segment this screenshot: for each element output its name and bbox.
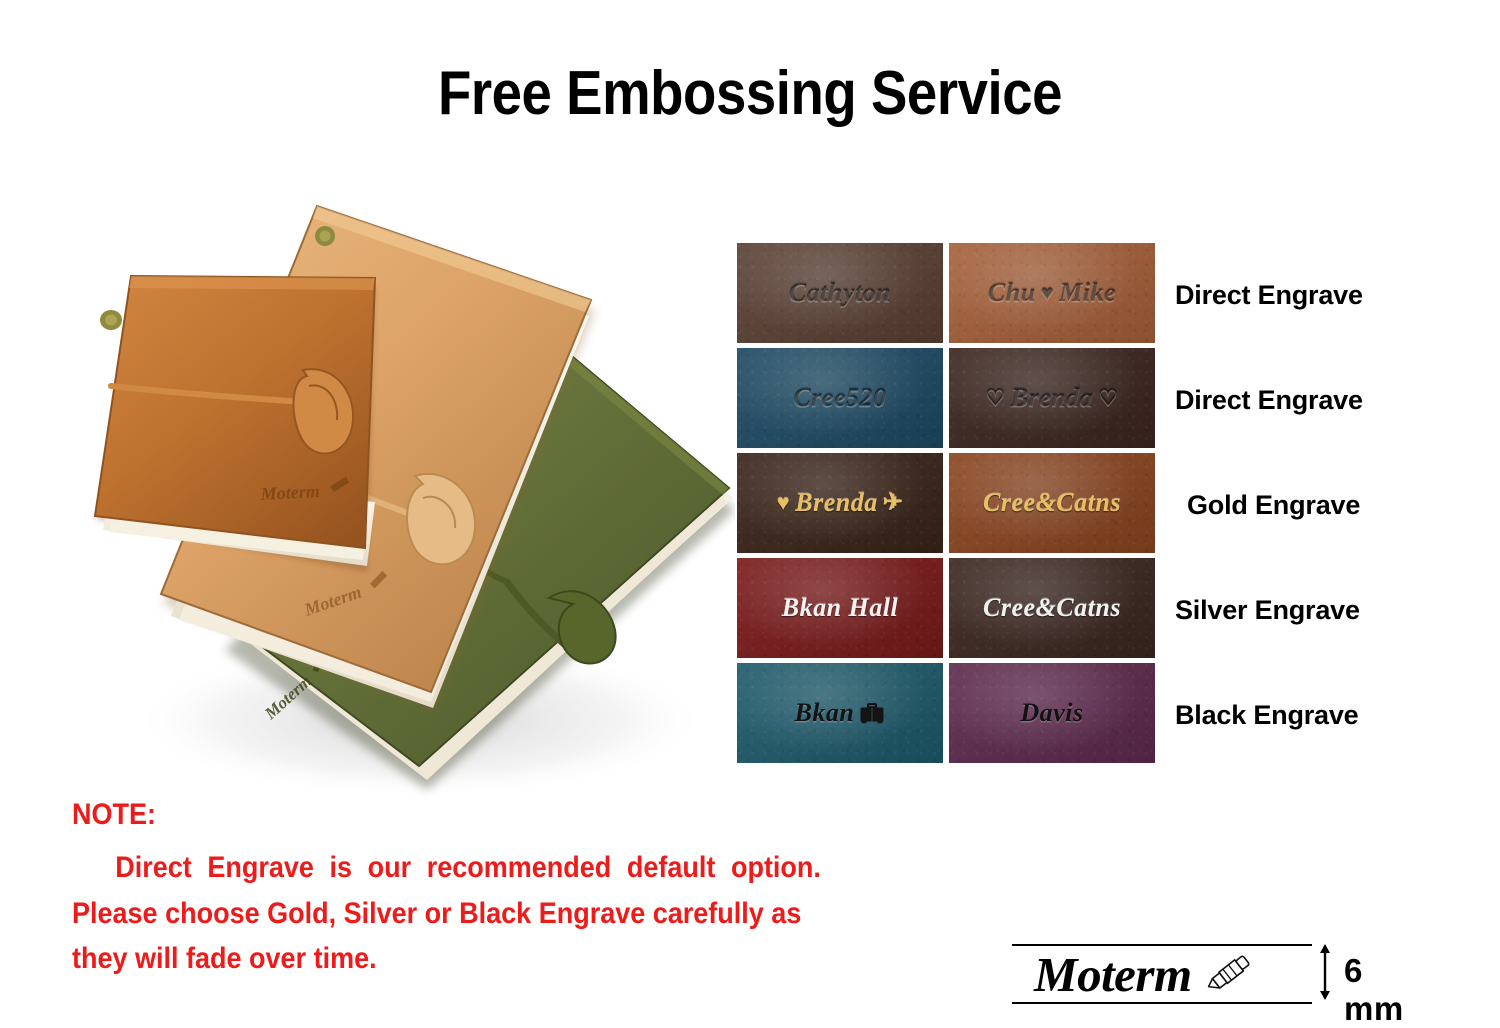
briefcase-icon bbox=[859, 703, 885, 724]
note-line-2: Please choose Gold, Silver or Black Engr… bbox=[72, 891, 936, 937]
swatch-sample-2: Chu ♥ Mike bbox=[949, 243, 1155, 343]
swatch-text: Bkan Hall bbox=[782, 593, 898, 623]
swatch-name: Chu bbox=[988, 278, 1036, 308]
note-heading: NOTE: bbox=[72, 798, 936, 832]
size-label: 6 mm bbox=[1344, 952, 1432, 1028]
swatch-text: Davis bbox=[1020, 698, 1083, 728]
engrave-label-black: Black Engrave bbox=[1175, 663, 1475, 768]
svg-text:Moterm: Moterm bbox=[259, 481, 320, 504]
page-title: Free Embossing Service bbox=[90, 58, 1410, 129]
moterm-logo-box: Moterm bbox=[1012, 944, 1312, 1004]
note-line-3: they will fade over time. bbox=[72, 936, 936, 982]
airplane-icon: ✈ bbox=[883, 491, 904, 515]
swatch-text: Cree&Catns bbox=[983, 593, 1121, 623]
swatch-name: Brenda bbox=[795, 488, 877, 518]
note-block: NOTE: Direct Engrave is our recommended … bbox=[72, 798, 1032, 982]
swatch-text: ♥ Brenda ✈ bbox=[777, 488, 904, 518]
brand-mark: Moterm 6 mm bbox=[1012, 932, 1432, 1018]
dimension-arrow bbox=[1316, 944, 1334, 1000]
moterm-wordmark: Moterm bbox=[1034, 950, 1192, 999]
swatch-name: Bkan bbox=[795, 698, 855, 728]
pen-icon bbox=[1202, 953, 1258, 997]
swatch-sample-6: Cree&Catns bbox=[949, 453, 1155, 553]
engrave-sample-grid: Cathyton Chu ♥ Mike Cree520 ♡ Brenda ♡ ♥ bbox=[737, 243, 1155, 763]
engrave-label-direct-1: Direct Engrave bbox=[1175, 243, 1475, 348]
swatch-sample-8: Cree&Catns bbox=[949, 558, 1155, 658]
note-line-1: Direct Engrave is our recommended defaul… bbox=[72, 845, 936, 891]
swatch-text: Chu ♥ Mike bbox=[988, 278, 1116, 308]
engrave-type-legend: Direct Engrave Direct Engrave Gold Engra… bbox=[1175, 243, 1475, 768]
swatch-name: Brenda bbox=[1011, 383, 1093, 413]
swatch-name: Davis bbox=[1020, 698, 1083, 728]
swatch-text: Bkan bbox=[795, 698, 886, 728]
swatch-sample-1: Cathyton bbox=[737, 243, 943, 343]
swatch-name-2: Mike bbox=[1059, 278, 1116, 308]
swatch-text: Cree520 bbox=[793, 383, 886, 413]
swatch-name: Cree520 bbox=[793, 383, 886, 413]
swatch-text: ♡ Brenda ♡ bbox=[986, 383, 1119, 413]
swatch-sample-4: ♡ Brenda ♡ bbox=[949, 348, 1155, 448]
engrave-label-direct-2: Direct Engrave bbox=[1175, 348, 1475, 453]
heart-icon: ♥ bbox=[777, 492, 791, 514]
swatch-text: Cree&Catns bbox=[983, 488, 1121, 518]
orange-brown-notebook: Moterm bbox=[95, 276, 375, 572]
heart-outline-icon: ♡ bbox=[1098, 387, 1118, 409]
swatch-sample-7: Bkan Hall bbox=[737, 558, 943, 658]
heart-outline-icon: ♡ bbox=[986, 387, 1006, 409]
engrave-label-gold: Gold Engrave bbox=[1175, 453, 1475, 558]
heart-icon: ♥ bbox=[1041, 282, 1055, 304]
swatch-name: Bkan Hall bbox=[782, 593, 898, 623]
swatch-sample-10: Davis bbox=[949, 663, 1155, 763]
product-photo: Moterm Moterm bbox=[75, 180, 735, 805]
swatch-name: Cree&Catns bbox=[983, 593, 1121, 623]
swatch-name: Cathyton bbox=[789, 278, 891, 308]
swatch-text: Cathyton bbox=[789, 278, 891, 308]
swatch-sample-9: Bkan bbox=[737, 663, 943, 763]
swatch-sample-5: ♥ Brenda ✈ bbox=[737, 453, 943, 553]
engrave-label-silver: Silver Engrave bbox=[1175, 558, 1475, 663]
swatch-name: Cree&Catns bbox=[983, 488, 1121, 518]
swatch-sample-3: Cree520 bbox=[737, 348, 943, 448]
